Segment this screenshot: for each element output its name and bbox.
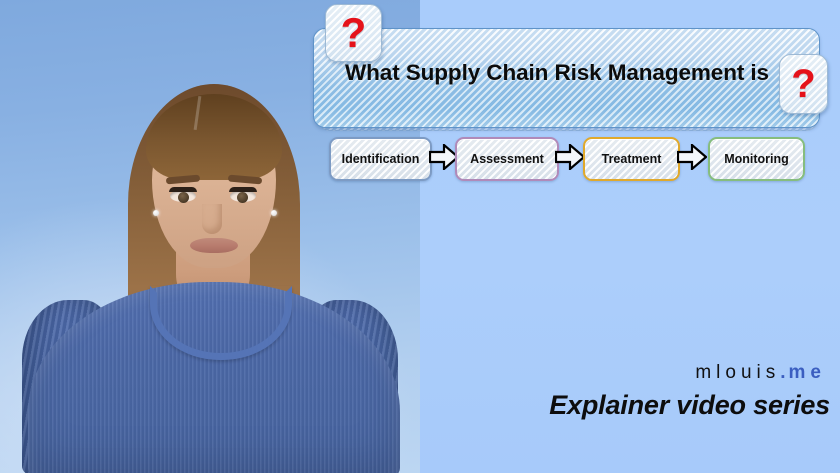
flow-step-assessment: Assessment — [455, 137, 559, 181]
flow-step-monitoring: Monitoring — [708, 137, 805, 181]
flow-step-label: Identification — [342, 152, 420, 166]
explainer-video-slide: What Supply Chain Risk Management is ? ?… — [0, 0, 840, 473]
slide-title: What Supply Chain Risk Management is — [345, 60, 797, 86]
presenter-iris-right — [237, 192, 248, 203]
right-arrow-icon — [555, 144, 585, 170]
presenter-iris-left — [178, 192, 189, 203]
question-mark-badge-right: ? — [779, 54, 828, 114]
flow-step-label: Treatment — [602, 152, 662, 166]
brand-domain-dot: . — [780, 362, 788, 383]
presenter-lash-right — [229, 187, 257, 192]
question-mark-icon: ? — [791, 64, 815, 104]
flow-step-identification: Identification — [329, 137, 432, 181]
presenter-lash-left — [169, 187, 197, 192]
flow-step-label: Monitoring — [724, 152, 789, 166]
presenter-earring-left — [153, 210, 159, 216]
presenter-nose — [202, 204, 222, 234]
question-mark-icon: ? — [341, 12, 367, 54]
flow-step-treatment: Treatment — [583, 137, 680, 181]
brand-domain-tld: me — [789, 362, 826, 383]
flow-step-label: Assessment — [470, 152, 544, 166]
right-arrow-icon — [677, 144, 707, 170]
question-mark-badge-left: ? — [325, 4, 382, 62]
risk-management-process-flow: Identification Assessment Treatment Moni… — [325, 137, 815, 179]
brand-domain-name: mlouis — [695, 362, 780, 383]
brand-tagline: Explainer video series — [549, 390, 830, 421]
presenter-lips — [190, 238, 238, 253]
brand-domain: mlouis.me — [695, 362, 826, 384]
presenter-earring-right — [271, 210, 277, 216]
